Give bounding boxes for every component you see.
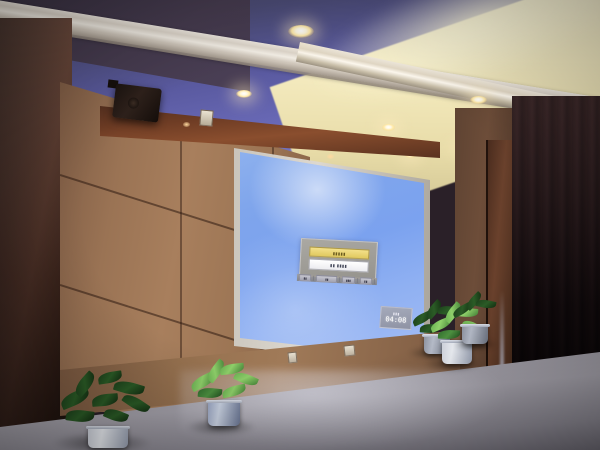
dialog-highlight-field[interactable]: ▮▮▮▮▮ bbox=[309, 246, 369, 259]
potted-plant-right-3 bbox=[452, 296, 498, 344]
downlight-4-icon bbox=[470, 96, 487, 104]
pot-rim bbox=[460, 324, 490, 327]
taskbar-item[interactable]: ▮▮ bbox=[316, 275, 337, 283]
wall-speaker bbox=[112, 83, 162, 122]
dialog-text-field[interactable]: ▮▮ ▮▮▮▮ bbox=[308, 258, 368, 272]
beam-accent-lamp bbox=[183, 122, 190, 127]
room-scene: ▮▮▮▮▮ ▮▮ ▮▮▮▮ ▮▮▮▮▮▮▮▮▮ ▮▮▮ 04:08 bbox=[0, 0, 600, 450]
clock-time: 04:08 bbox=[385, 316, 407, 324]
taskbar-separator bbox=[356, 278, 357, 283]
taskbar-item[interactable]: ▮▮ bbox=[299, 274, 312, 282]
downlight-1-icon bbox=[288, 25, 314, 38]
window-curtain bbox=[512, 96, 600, 396]
beam-accent-lamp bbox=[327, 154, 334, 159]
potted-plant-left-1 bbox=[58, 372, 154, 448]
speaker-cone bbox=[127, 97, 139, 109]
wall-switch-plate[interactable] bbox=[199, 109, 213, 126]
panel-seam bbox=[180, 120, 182, 396]
taskbar-separator bbox=[374, 279, 375, 284]
taskbar-separator bbox=[313, 276, 314, 281]
taskbar-item[interactable]: ▮▮ bbox=[359, 277, 372, 285]
potted-plant-left-2 bbox=[190, 364, 260, 426]
taskbar-separator bbox=[339, 277, 340, 282]
projected-clock: ▮▮▮ 04:08 bbox=[379, 306, 412, 330]
pot-rim bbox=[206, 400, 242, 403]
pot-rim bbox=[86, 426, 130, 429]
downlight-3-icon bbox=[382, 124, 395, 131]
taskbar-item[interactable]: ▮▮▮ bbox=[342, 276, 355, 284]
downlight-2-icon bbox=[236, 90, 252, 98]
wall-outlet[interactable] bbox=[343, 344, 355, 356]
plant-pot bbox=[462, 324, 488, 344]
wall-outlet[interactable] bbox=[287, 352, 297, 364]
plant-pot bbox=[88, 426, 128, 448]
plant-pot bbox=[208, 400, 240, 426]
